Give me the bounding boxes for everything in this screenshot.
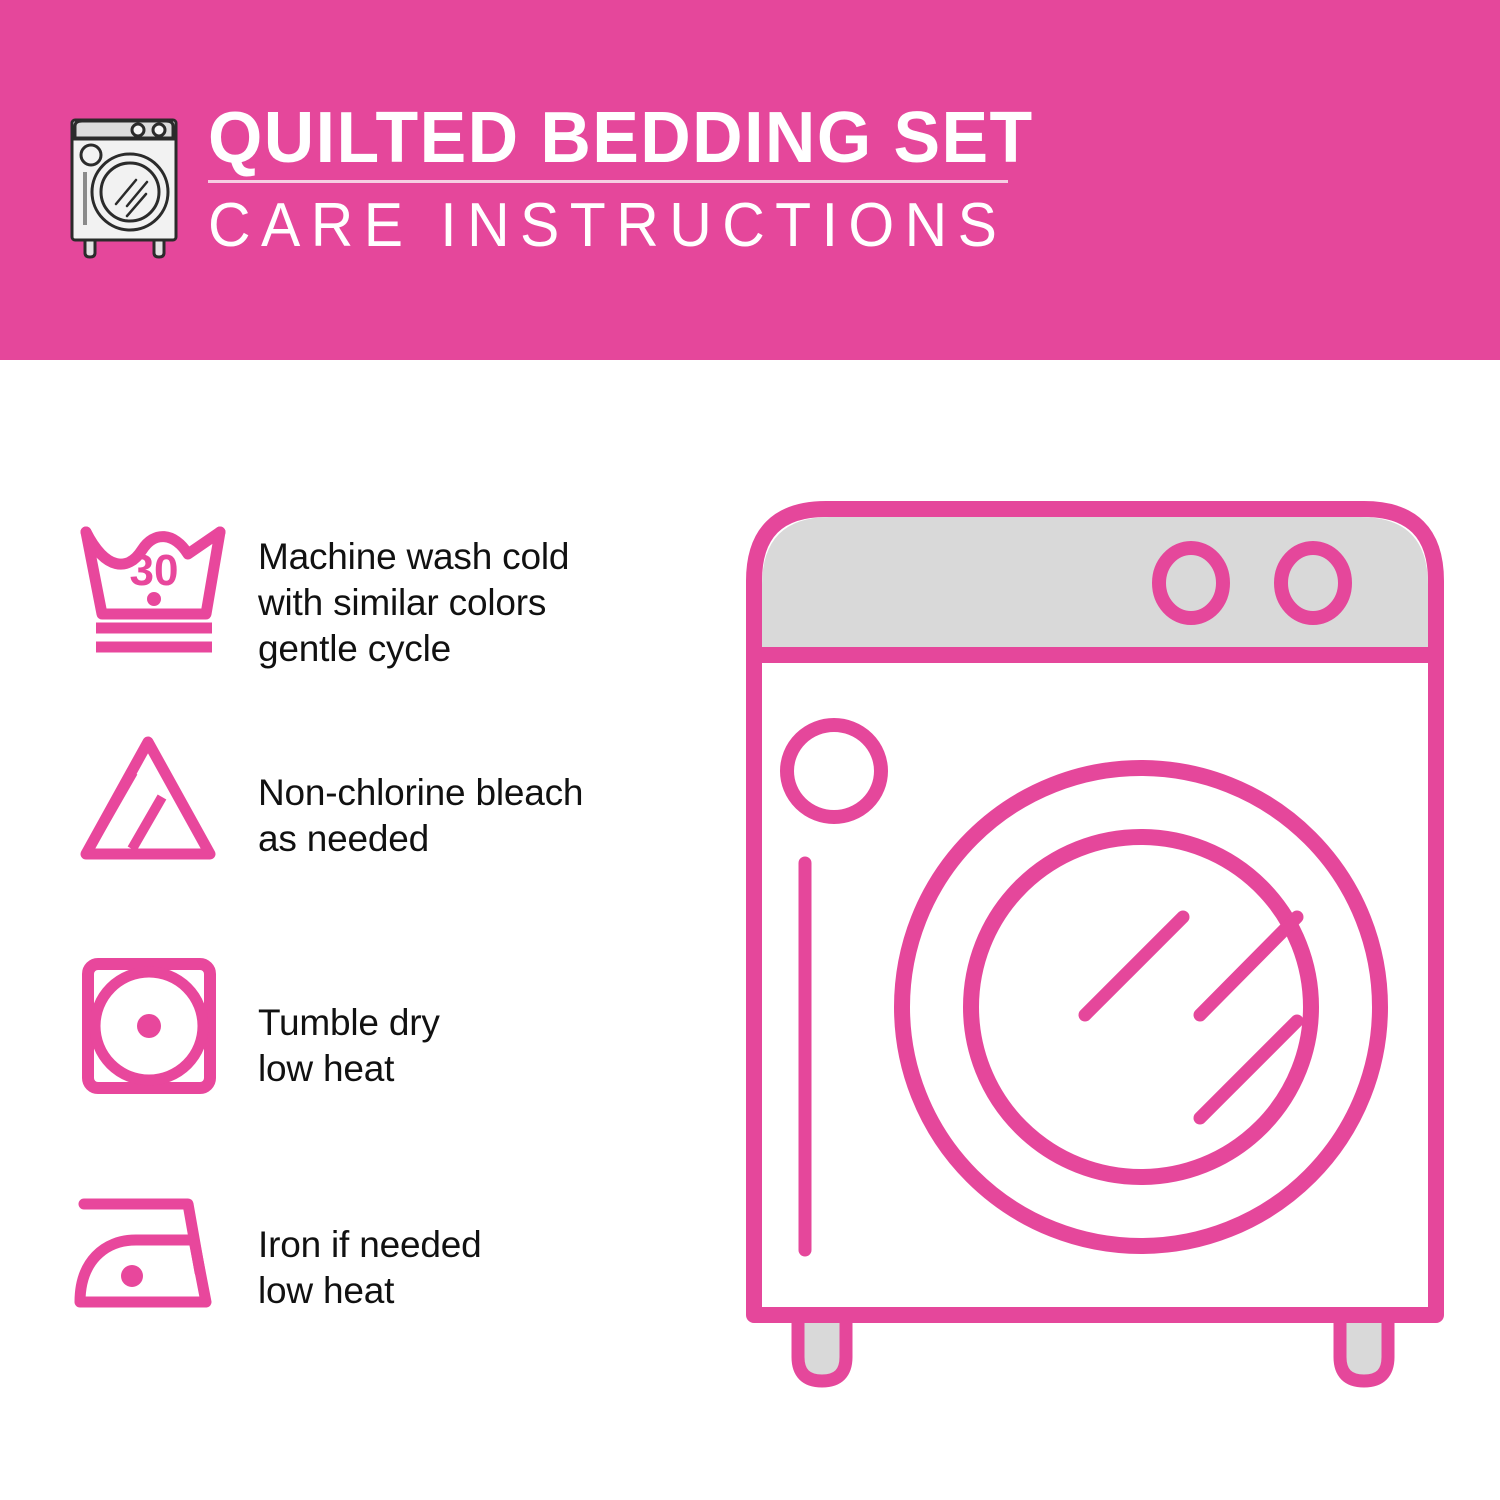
- wash-basin-30-icon: 30: [70, 510, 240, 660]
- care-item-label: Machine wash cold with similar colors ge…: [240, 510, 569, 672]
- care-item-wash: 30 Machine wash cold with similar colors…: [70, 510, 569, 672]
- page-title: QUILTED BEDDING SET: [208, 102, 1034, 174]
- front-load-washing-machine-illustration: [740, 495, 1450, 1420]
- control-panel: [762, 517, 1428, 655]
- iron-low-heat-icon: [70, 1180, 240, 1330]
- tumble-dry-low-icon: [70, 952, 240, 1102]
- header-banner: QUILTED BEDDING SET CARE INSTRUCTIONS: [0, 0, 1500, 360]
- header-content: QUILTED BEDDING SET CARE INSTRUCTIONS: [60, 100, 1059, 260]
- header-text-block: QUILTED BEDDING SET CARE INSTRUCTIONS: [208, 100, 1059, 257]
- bleach-triangle-icon: [70, 722, 240, 872]
- care-item-bleach: Non-chlorine bleach as needed: [70, 722, 583, 872]
- care-item-label: Tumble dry low heat: [240, 952, 440, 1092]
- care-item-iron: Iron if needed low heat: [70, 1180, 481, 1330]
- page-subtitle: CARE INSTRUCTIONS: [208, 195, 1017, 257]
- wash-temperature-value: 30: [130, 546, 179, 595]
- care-item-label: Iron if needed low heat: [240, 1180, 481, 1314]
- washing-machine-icon: [60, 100, 190, 260]
- care-item-label: Non-chlorine bleach as needed: [240, 722, 583, 862]
- header-divider: [208, 180, 1008, 183]
- care-item-tumble-dry: Tumble dry low heat: [70, 952, 440, 1102]
